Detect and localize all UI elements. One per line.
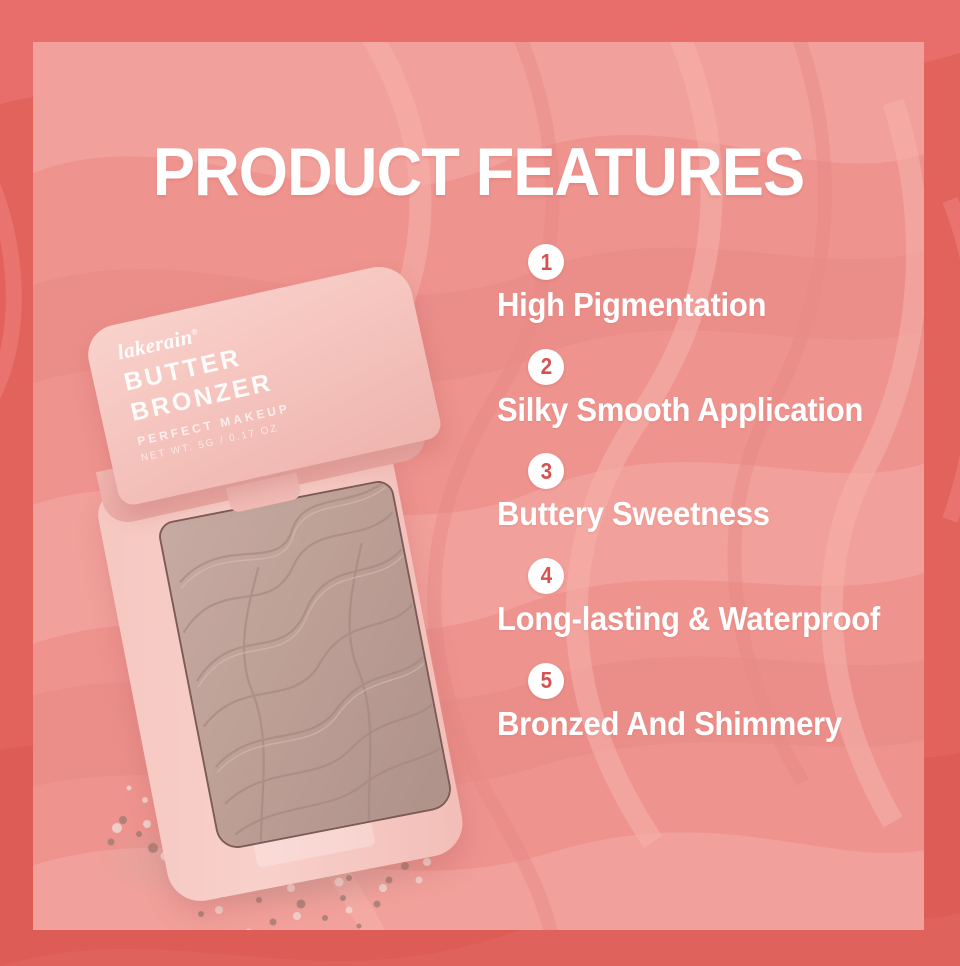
feature-number-4: 4 [540,564,552,587]
feature-badge-1: 1 [528,244,564,280]
feature-badge-5: 5 [528,663,564,699]
feature-item-1: 1 High Pigmentation [497,244,917,323]
feature-item-3: 3 Buttery Sweetness [497,453,917,532]
feature-label-4: Long-lasting & Waterproof [497,601,892,637]
feature-item-4: 4 Long-lasting & Waterproof [497,558,917,637]
feature-number-2: 2 [540,355,552,378]
feature-list: 1 High Pigmentation 2 Silky Smooth Appli… [497,244,917,767]
inner-panel: PRODUCT FEATURES [33,42,924,930]
feature-badge-4: 4 [528,558,564,594]
registered-trademark-icon: ® [191,327,199,337]
feature-label-3: Buttery Sweetness [497,496,892,532]
feature-label-1: High Pigmentation [497,287,892,323]
feature-number-3: 3 [540,460,552,483]
feature-label-2: Silky Smooth Application [497,392,892,428]
feature-number-1: 1 [540,251,552,274]
feature-badge-2: 2 [528,349,564,385]
lid-branding: lakerain® BUTTER BRONZER PERFECT MAKEUP … [115,280,416,464]
page-title: PRODUCT FEATURES [64,138,893,206]
feature-badge-3: 3 [528,453,564,489]
product-image: lakerain® BUTTER BRONZER PERFECT MAKEUP … [53,222,483,930]
feature-number-5: 5 [540,669,552,692]
feature-label-5: Bronzed And Shimmery [497,706,892,742]
feature-item-5: 5 Bronzed And Shimmery [497,663,917,742]
feature-item-2: 2 Silky Smooth Application [497,349,917,428]
product-features-poster: PRODUCT FEATURES [0,0,960,966]
